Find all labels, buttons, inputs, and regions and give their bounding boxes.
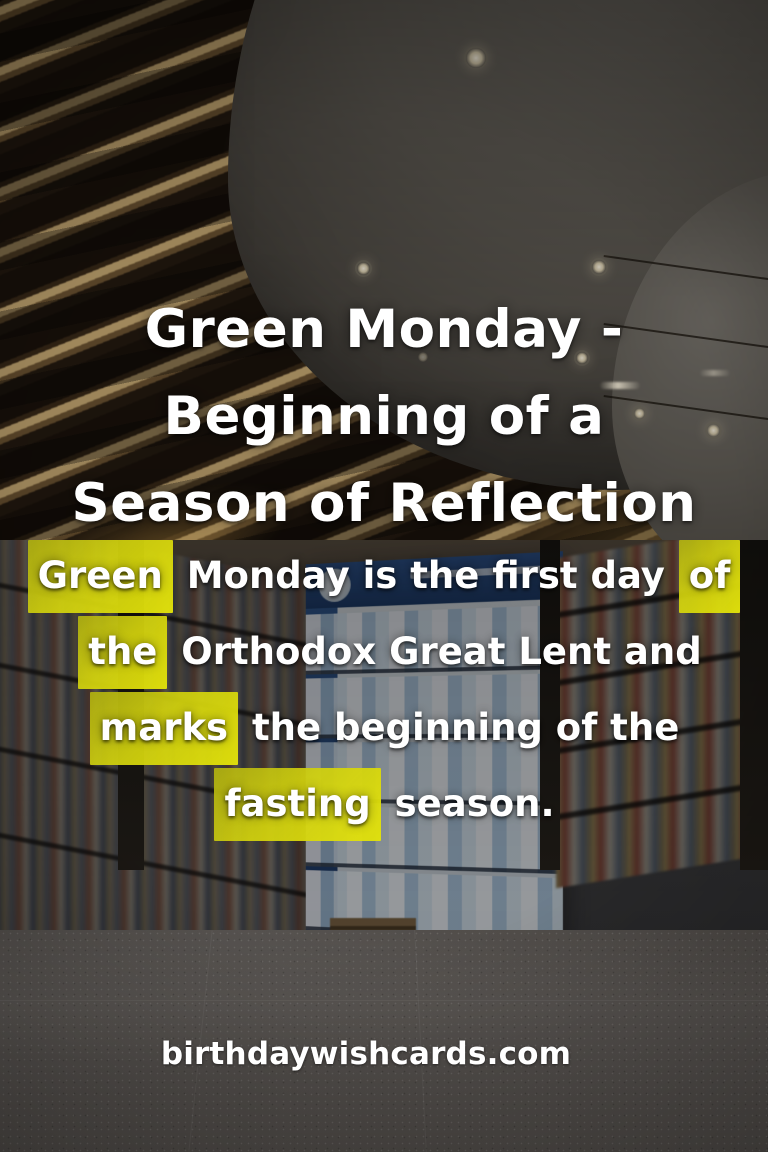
body-text-4: season. — [382, 782, 555, 825]
body-text-1: Monday is the first day — [174, 554, 678, 597]
site-watermark: birthdaywishcards.com — [0, 1036, 768, 1072]
highlighted-word-marks: marks — [90, 692, 238, 765]
highlighted-word-green: Green — [28, 540, 173, 613]
body-text-3: the beginning of the — [239, 706, 679, 749]
highlighted-word-fasting: fasting — [214, 768, 380, 841]
poster-body: Green Monday is the first day of the Ort… — [26, 538, 742, 842]
poster: Green Monday - Beginning of a Season of … — [0, 0, 768, 1152]
poster-title: Green Monday - Beginning of a Season of … — [0, 286, 768, 547]
body-text-2: Orthodox Great Lent and — [168, 630, 701, 673]
text-overlay: Green Monday - Beginning of a Season of … — [0, 0, 768, 1152]
